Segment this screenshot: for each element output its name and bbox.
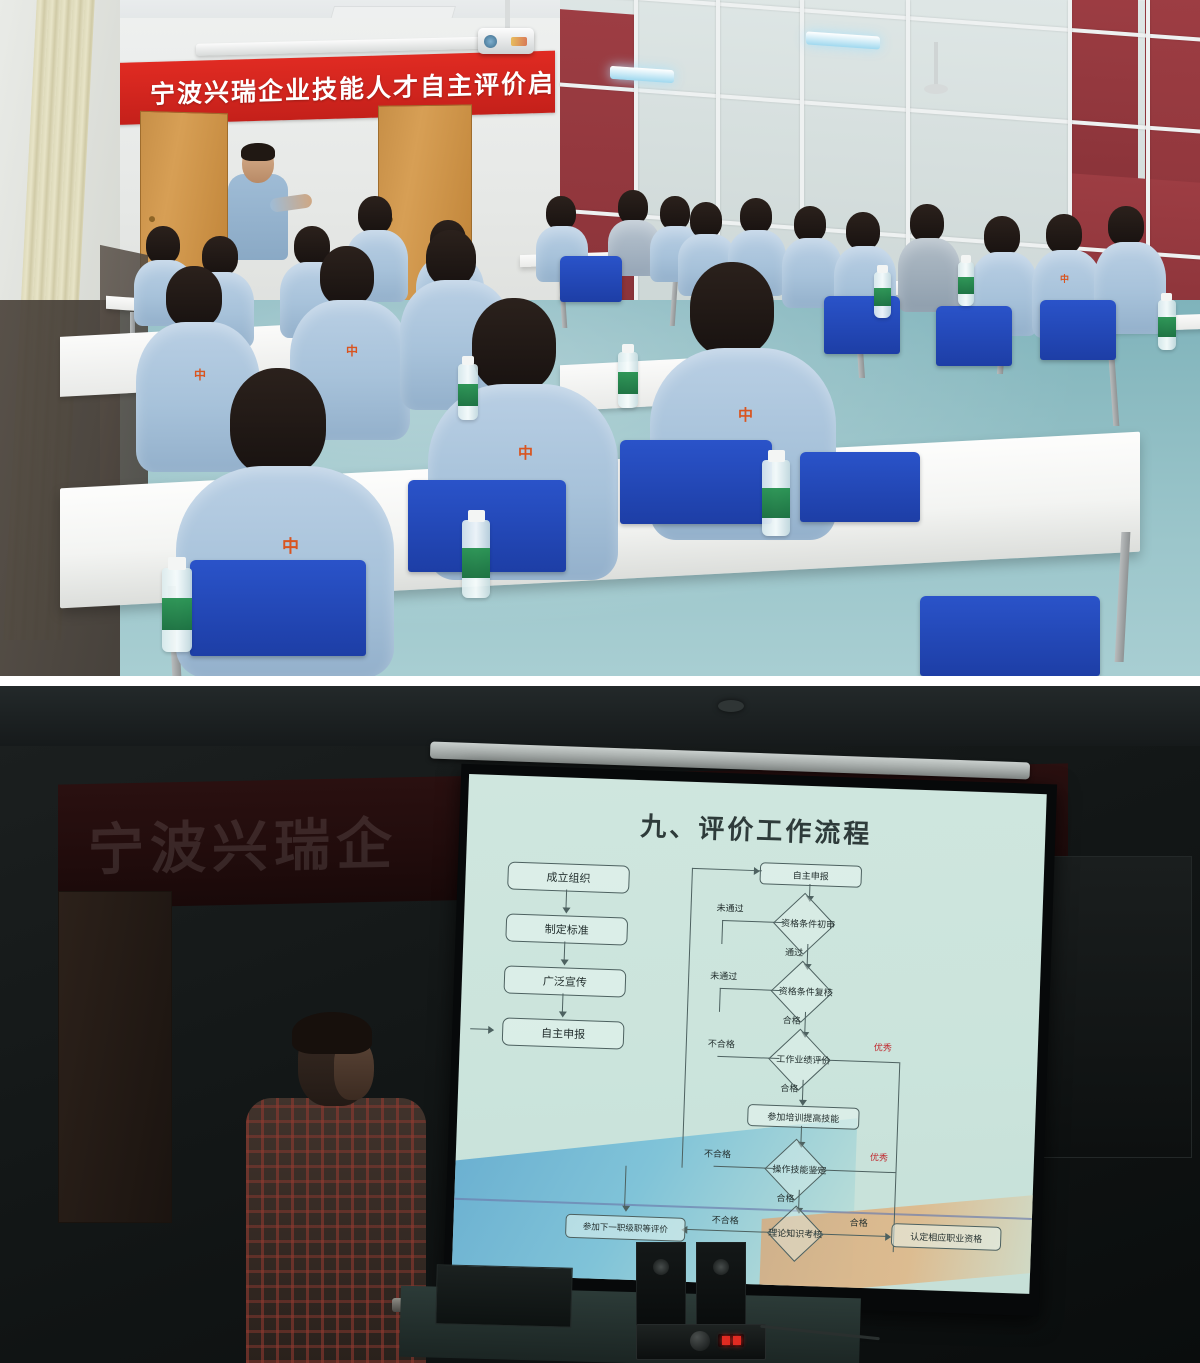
door-knob — [149, 216, 155, 222]
panel-divider — [0, 676, 1200, 686]
chair — [920, 596, 1100, 676]
head — [166, 266, 222, 328]
presenter-body — [246, 1098, 426, 1363]
ceiling-projector — [478, 28, 534, 54]
edge-label-pass-1: 通过 — [785, 945, 803, 959]
bottle-cap — [462, 356, 474, 365]
chair — [560, 256, 622, 302]
edge-label-fail-1: 未通过 — [716, 901, 743, 915]
uniform-logo: 中 — [194, 366, 205, 383]
bottle-cap — [622, 344, 634, 353]
water-bottle — [618, 352, 638, 408]
edge-label-qualified-3: 合格 — [849, 1216, 867, 1230]
top-meeting-photo: 宁波兴瑞企业技能人才自主评价启动会 — [0, 0, 1200, 676]
edge-label-qualified-2: 合格 — [776, 1191, 794, 1205]
bottle-cap — [1161, 293, 1172, 301]
projector-mount-rod — [505, 0, 510, 30]
torso — [898, 238, 960, 312]
presenter-hair — [241, 143, 275, 161]
water-bottle — [874, 272, 891, 318]
flow-decision-initial-review-label: 资格条件初审 — [760, 915, 856, 931]
edge-label-qualified-1: 合格 — [780, 1081, 798, 1095]
water-bottle — [162, 568, 192, 652]
bottle-cap — [768, 450, 785, 462]
water-bottle — [458, 364, 478, 420]
head — [910, 204, 944, 242]
head — [984, 216, 1020, 256]
amplifier-display — [718, 1334, 744, 1347]
door — [58, 891, 172, 1223]
bottle-label — [762, 488, 790, 518]
head — [358, 196, 392, 234]
water-bottle — [958, 262, 974, 306]
connector — [692, 868, 762, 872]
connector — [721, 920, 723, 944]
ceiling — [0, 686, 1200, 746]
edge-label-unqualified-2: 不合格 — [704, 1146, 731, 1160]
bottle-label — [618, 372, 638, 394]
bottle-label — [458, 384, 478, 406]
chair — [620, 440, 772, 524]
speaker-cone-icon — [713, 1259, 729, 1275]
flow-node-next-level-evaluation: 参加下一职级职等评价 — [565, 1214, 686, 1242]
arrow-down-icon — [559, 1011, 567, 1017]
head — [426, 230, 476, 286]
head — [320, 246, 374, 306]
edge-label-unqualified-1: 不合格 — [708, 1037, 735, 1051]
bottle-label — [958, 277, 974, 294]
uniform-logo: 中 — [738, 404, 752, 425]
head — [690, 202, 722, 238]
flow-node-establish-org: 成立组织 — [507, 861, 630, 893]
chair — [190, 560, 366, 656]
edge-label-excellent-1: 优秀 — [874, 1040, 892, 1054]
head — [472, 298, 556, 392]
edge-label-excellent-2: 优秀 — [870, 1150, 888, 1164]
bottle-cap — [468, 510, 485, 522]
arrow-right-icon — [754, 867, 760, 875]
bottle-label — [1158, 317, 1176, 337]
uniform-logo: 中 — [346, 342, 357, 359]
head — [1046, 214, 1082, 254]
laptop[interactable] — [435, 1264, 573, 1328]
flow-node-certify-qualification: 认定相应职业资格 — [891, 1223, 1002, 1251]
bottom-presentation-photo: 宁波兴瑞企 启动会 九、评价工作流程 成立组织 制定标准 — [0, 686, 1200, 1363]
flow-node-set-standards: 制定标准 — [505, 913, 628, 945]
head — [546, 196, 576, 230]
speaker-cone-icon — [653, 1259, 669, 1275]
projector-lens-icon — [484, 35, 497, 48]
water-bottle — [462, 520, 490, 598]
wall-panel — [1040, 856, 1192, 1158]
amplifier-volume-knob[interactable] — [690, 1331, 710, 1351]
edge-label-unqualified-3: 不合格 — [711, 1213, 738, 1227]
head — [146, 226, 180, 264]
flow-decision-recheck-label: 资格条件复核 — [758, 983, 854, 999]
bottle-label — [462, 548, 490, 578]
slide-surface: 九、评价工作流程 成立组织 制定标准 广泛宣传 自主申报 — [452, 774, 1047, 1294]
flowchart: 成立组织 制定标准 广泛宣传 自主申报 自主申报 — [452, 844, 1044, 1284]
bottle-label — [874, 288, 891, 306]
connector — [470, 1028, 490, 1030]
water-bottle — [762, 460, 790, 536]
connector — [624, 1166, 627, 1208]
chair — [936, 306, 1012, 366]
flow-node-self-application: 自主申报 — [759, 862, 862, 888]
chair — [800, 452, 920, 522]
banner-title: 宁波兴瑞企业技能人才自主评价启动会 — [150, 62, 555, 111]
banner-text-left: 宁波兴瑞企 — [88, 799, 398, 886]
light-rod — [934, 42, 938, 86]
presenter-body — [228, 174, 288, 260]
head — [846, 212, 880, 250]
head — [794, 206, 826, 242]
connector — [719, 988, 721, 1012]
head — [230, 368, 326, 476]
bottle-cap — [877, 265, 888, 273]
projection-screen: 九、评价工作流程 成立组织 制定标准 广泛宣传 自主申报 — [443, 764, 1057, 1316]
arrow-down-icon — [560, 959, 568, 965]
head — [618, 190, 648, 224]
water-bottle — [1158, 300, 1176, 350]
speaker-right — [696, 1242, 746, 1328]
projector-label — [511, 37, 527, 46]
arrow-down-icon — [562, 907, 570, 913]
flow-node-self-application-left: 自主申报 — [502, 1017, 625, 1049]
head — [740, 198, 772, 234]
uniform-logo: 中 — [1060, 272, 1068, 285]
connector-loop — [682, 868, 694, 1168]
speaker-left — [636, 1242, 686, 1328]
flow-node-training: 参加培训提高技能 — [747, 1104, 860, 1130]
bottle-cap — [961, 255, 971, 263]
flow-node-promotion: 广泛宣传 — [503, 965, 626, 997]
ceiling-smoke-detector — [718, 700, 744, 712]
bottle-label — [162, 598, 192, 630]
head — [1108, 206, 1144, 246]
two-panel-photo-page: 宁波兴瑞企业技能人才自主评价启动会 — [0, 0, 1200, 1363]
uniform-logo: 中 — [518, 442, 532, 463]
uniform-logo: 中 — [282, 532, 298, 557]
chair — [1040, 300, 1116, 360]
light-head — [924, 84, 948, 94]
presenter-hair — [292, 1012, 372, 1054]
edge-label-fail-2: 未通过 — [710, 969, 737, 983]
bottle-cap — [168, 557, 186, 570]
edge-label-pass-2: 合格 — [783, 1013, 801, 1027]
head — [690, 262, 774, 356]
head — [660, 196, 690, 230]
